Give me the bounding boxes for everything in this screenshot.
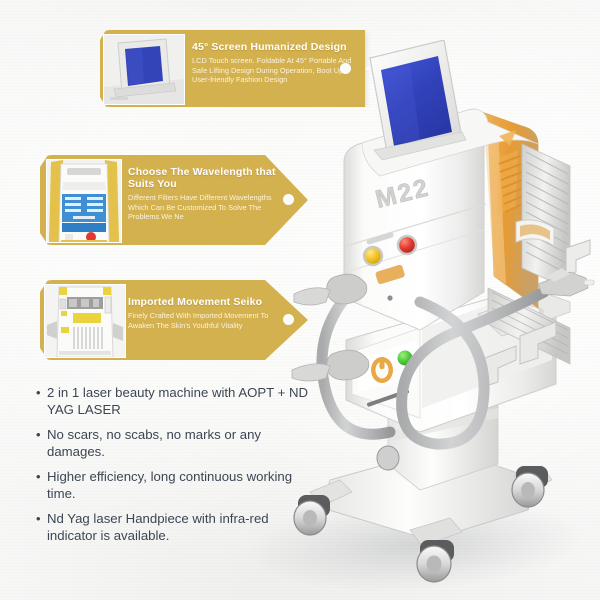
list-item: • Nd Yag laser Handpiece with infra-red …	[36, 511, 316, 544]
callout-description: Finely Crafted With Imported Movement To…	[128, 311, 280, 330]
callout-title: Imported Movement Seiko	[128, 296, 280, 308]
tag-hole	[340, 63, 351, 74]
callout-movement-seiko[interactable]: Imported Movement Seiko Finely Crafted W…	[40, 280, 308, 360]
tag-hole	[283, 194, 294, 205]
bullet-icon: •	[36, 427, 47, 460]
caster-front-center	[417, 540, 454, 582]
handpiece-upper	[294, 274, 367, 305]
handpiece-lower	[292, 350, 369, 381]
callout-screen-design[interactable]: 45° Screen Humanized Design LCD Touch sc…	[100, 30, 365, 107]
feature-text: 2 in 1 laser beauty machine with AOPT + …	[47, 385, 316, 418]
list-item: • Higher efficiency, long continuous wor…	[36, 469, 316, 502]
m22-laser-machine-photo: M22	[270, 40, 600, 585]
filter-cartridge-thumbnail	[46, 159, 122, 243]
callout-description: Different Filters Have Different Wavelen…	[128, 193, 278, 222]
bullet-icon: •	[36, 511, 47, 544]
list-item: • 2 in 1 laser beauty machine with AOPT …	[36, 385, 316, 418]
caster-back-left	[377, 446, 399, 470]
feature-list: • 2 in 1 laser beauty machine with AOPT …	[36, 385, 316, 553]
tag-hole	[283, 314, 294, 325]
machine-svg: M22	[270, 40, 600, 585]
callout-title: Choose The Wavelength that Suits You	[128, 166, 278, 190]
bullet-icon: •	[36, 469, 47, 502]
yellow-button	[364, 247, 382, 265]
lcd-touch-screen-thumbnail	[103, 34, 185, 105]
product-infographic: M22	[0, 0, 600, 600]
power-logo-icon	[371, 357, 393, 383]
list-item: • No scars, no scabs, no marks or any da…	[36, 427, 316, 460]
feature-text: No scars, no scabs, no marks or any dama…	[47, 427, 316, 460]
feature-text: Higher efficiency, long continuous worki…	[47, 469, 316, 502]
internal-movement-thumbnail	[44, 284, 126, 358]
bullet-icon: •	[36, 385, 47, 418]
feature-text: Nd Yag laser Handpiece with infra-red in…	[47, 511, 316, 544]
callout-wavelength[interactable]: Choose The Wavelength that Suits You Dif…	[40, 155, 308, 245]
red-button	[398, 236, 416, 254]
callout-description: LCD Touch screen. Foldable At 45° Portab…	[192, 56, 352, 85]
callout-title: 45° Screen Humanized Design	[192, 41, 352, 53]
caster-back-right	[512, 466, 548, 507]
